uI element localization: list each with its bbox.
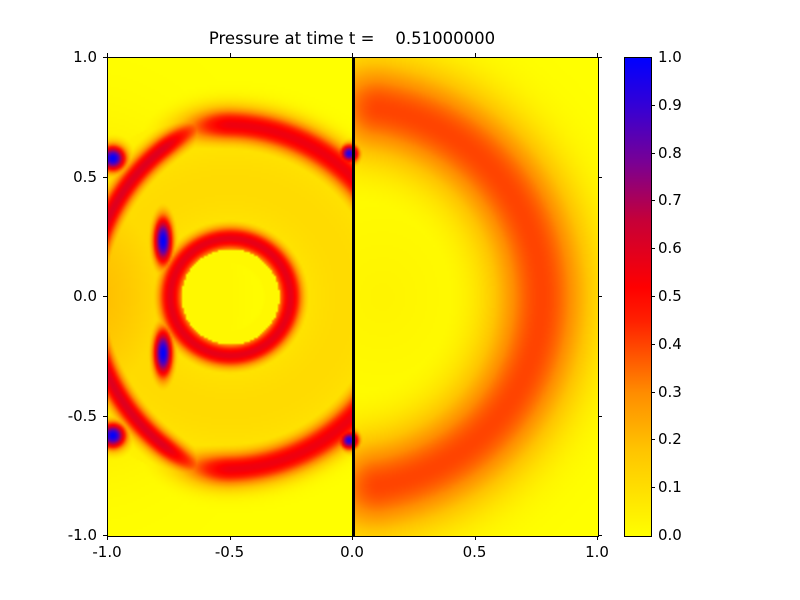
x-tick-label: -1.0	[77, 543, 137, 561]
colorbar-tick-mark	[651, 200, 655, 201]
page-title: Pressure at time t = 0.51000000	[107, 29, 597, 49]
colorbar-tick-label: 0.7	[658, 191, 682, 209]
y-tick-mark	[103, 535, 107, 536]
colorbar-tick-mark	[651, 248, 655, 249]
colorbar-tick-mark	[651, 153, 655, 154]
y-tick-label: 1.0	[37, 48, 97, 66]
colorbar-tick-mark	[651, 487, 655, 488]
colorbar[interactable]	[624, 57, 652, 537]
colorbar-tick-mark	[651, 392, 655, 393]
x-tick-mark	[352, 536, 353, 540]
colorbar-tick-label: 0.2	[658, 430, 682, 448]
y-tick-label: -0.5	[37, 407, 97, 425]
x-tick-mark	[107, 53, 108, 57]
colorbar-tick-label: 0.0	[658, 526, 682, 544]
x-tick-label: 0.5	[445, 543, 505, 561]
colorbar-tick-mark	[651, 296, 655, 297]
colorbar-tick-label: 0.9	[658, 96, 682, 114]
x-tick-mark	[597, 536, 598, 540]
y-tick-mark	[598, 57, 602, 58]
x-tick-label: 0.0	[322, 543, 382, 561]
colorbar-tick-label: 0.8	[658, 144, 682, 162]
colorbar-tick-label: 0.6	[658, 239, 682, 257]
y-tick-mark	[598, 535, 602, 536]
y-tick-mark	[598, 177, 602, 178]
colorbar-tick-mark	[651, 439, 655, 440]
x-tick-mark	[352, 53, 353, 57]
colorbar-tick-label: 0.1	[658, 478, 682, 496]
figure-canvas: Pressure at time t = 0.51000000 -1.0-0.5…	[0, 0, 800, 600]
colorbar-tick-label: 0.3	[658, 383, 682, 401]
colorbar-tick-mark	[651, 105, 655, 106]
y-tick-mark	[598, 296, 602, 297]
colorbar-tick-mark	[651, 344, 655, 345]
y-tick-mark	[103, 177, 107, 178]
x-tick-label: 1.0	[567, 543, 627, 561]
x-tick-mark	[230, 536, 231, 540]
x-tick-mark	[475, 53, 476, 57]
x-tick-mark	[107, 536, 108, 540]
y-tick-mark	[103, 57, 107, 58]
colorbar-tick-label: 0.4	[658, 335, 682, 353]
y-tick-mark	[598, 416, 602, 417]
y-tick-mark	[103, 296, 107, 297]
y-tick-label: 0.5	[37, 168, 97, 186]
x-tick-mark	[230, 53, 231, 57]
y-tick-label: -1.0	[37, 526, 97, 544]
colorbar-gradient	[625, 58, 651, 536]
x-tick-mark	[475, 536, 476, 540]
x-tick-label: -0.5	[200, 543, 260, 561]
y-tick-mark	[103, 416, 107, 417]
pressure-field-axes[interactable]	[107, 57, 599, 537]
colorbar-tick-label: 0.5	[658, 287, 682, 305]
material-interface-line	[352, 58, 355, 536]
y-tick-label: 0.0	[37, 287, 97, 305]
colorbar-tick-label: 1.0	[658, 48, 682, 66]
